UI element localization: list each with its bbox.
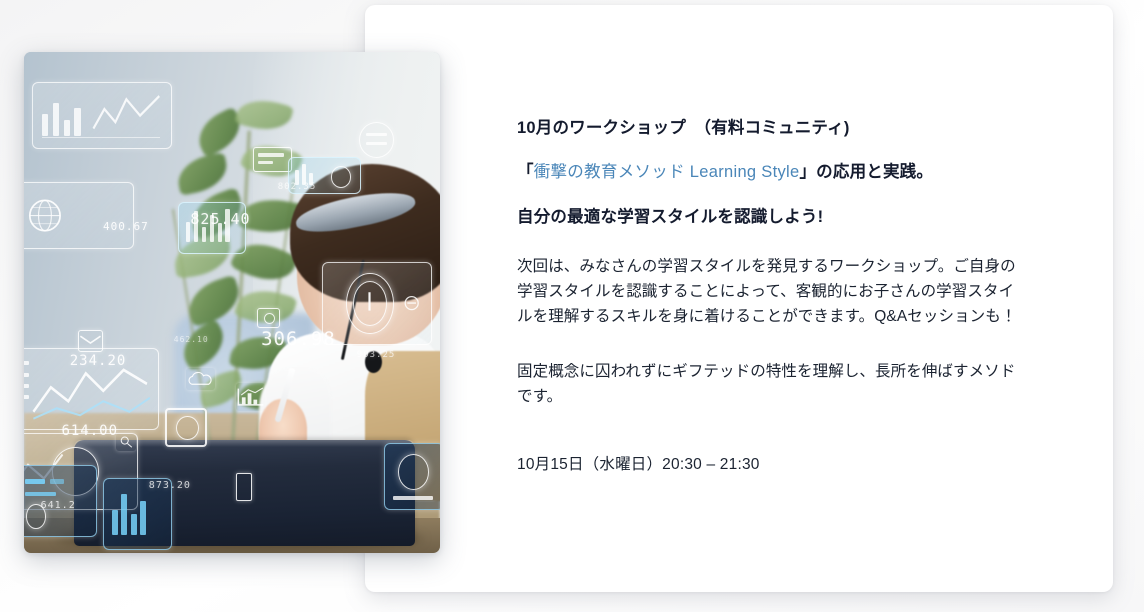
heading-quote-open: 「: [517, 163, 534, 181]
paragraph-workshop-description: 次回は、みなさんの学習スタイルを発見するワークショップ。ご自身の学習スタイルを認…: [517, 254, 1017, 329]
heading-recognize-style: 自分の最適な学習スタイルを認識しよう!: [517, 206, 1017, 228]
heading-method-line: 「衝撃の教育メソッド Learning Style」の応用と実践。: [517, 161, 1017, 183]
photo-child: [215, 182, 440, 483]
heading-workshop-title: 10月のワークショップ （有料コミュニティ): [517, 117, 1017, 139]
photo-child-hair: [290, 164, 440, 302]
workshop-photo-card: 400.67 825.40 306.98 234.20 614.00 903.2…: [24, 52, 440, 553]
photo-headset-mic-tip: [365, 351, 382, 373]
workshop-photo: 400.67 825.40 306.98 234.20 614.00 903.2…: [24, 52, 440, 553]
learning-style-link[interactable]: 衝撃の教育メソッド Learning Style: [534, 163, 800, 181]
heading-quote-close-suffix: 」の応用と実践。: [799, 163, 933, 181]
text-column: 10月のワークショップ （有料コミュニティ) 「衝撃の教育メソッド Learni…: [517, 117, 1017, 478]
event-date-time: 10月15日（水曜日）20:30 – 21:30: [517, 453, 1017, 478]
photo-tablet-edge: [74, 440, 415, 447]
content-card: 10月のワークショップ （有料コミュニティ) 「衝撃の教育メソッド Learni…: [365, 5, 1113, 592]
paragraph-method-description: 固定概念に囚われずにギフテッドの特性を理解し、長所を伸ばすメソドです。: [517, 359, 1017, 409]
photo-tablet: [74, 440, 415, 545]
